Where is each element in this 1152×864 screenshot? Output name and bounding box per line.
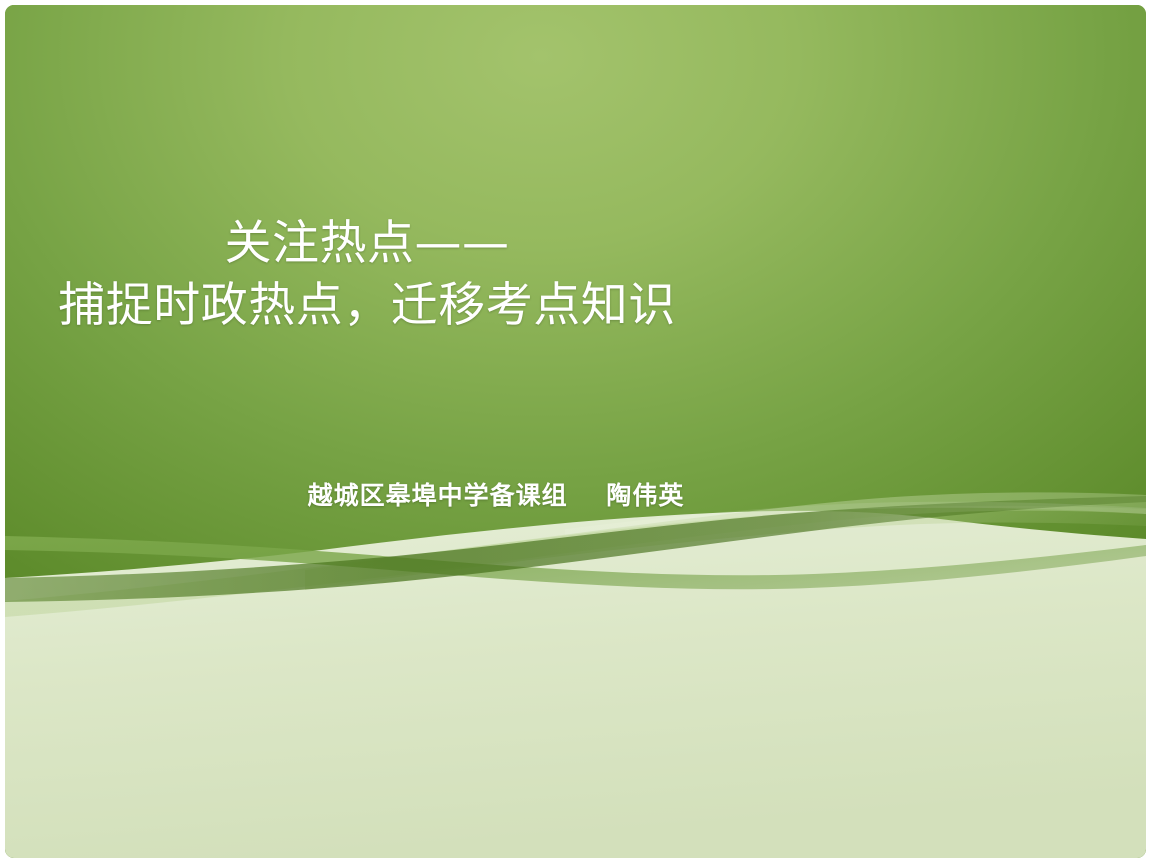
slide-subtitle: 越城区皋埠中学备课组 陶伟英 — [101, 479, 891, 513]
slide-canvas: 关注热点—— 捕捉时政热点，迁移考点知识 越城区皋埠中学备课组 陶伟英 — [5, 5, 1146, 858]
slide: 关注热点—— 捕捉时政热点，迁移考点知识 越城区皋埠中学备课组 陶伟英 — [0, 0, 1152, 864]
title-line-2: 捕捉时政热点，迁移考点知识 — [21, 275, 713, 337]
subtitle-text: 越城区皋埠中学备课组 陶伟英 — [308, 479, 685, 513]
slide-title: 关注热点—— 捕捉时政热点，迁移考点知识 — [21, 213, 713, 337]
title-line-1: 关注热点—— — [21, 213, 713, 275]
slide-background-art — [5, 5, 1146, 858]
